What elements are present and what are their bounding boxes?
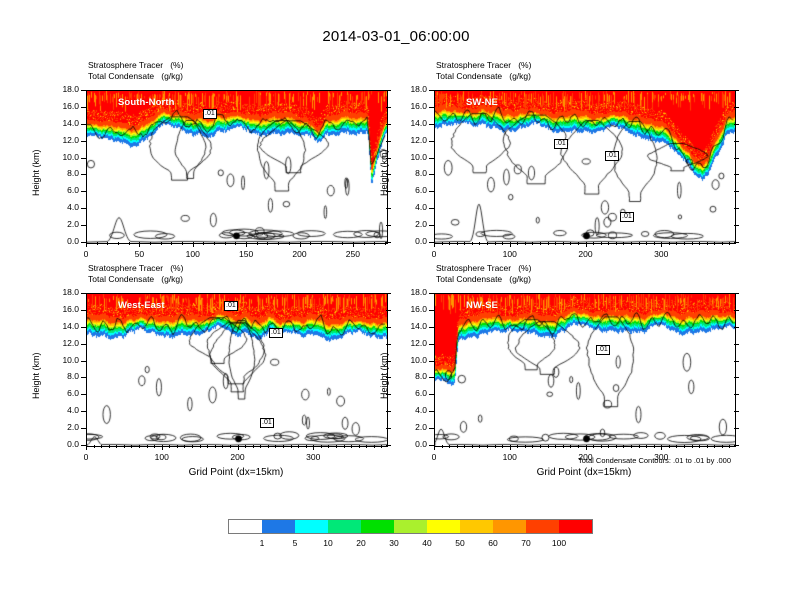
y-tick-label: 10.0 [46,355,79,365]
x-minor-tick [699,242,700,245]
y-tick-mark-right [386,344,391,345]
x-minor-tick [442,445,443,448]
x-minor-tick [532,242,533,245]
colorbar-tick-label: 20 [346,538,376,548]
y-tick-mark [429,428,434,429]
colorbar-cell-4 [361,520,394,533]
y-tick-mark-right [734,90,739,91]
y-tick-label: 4.0 [394,405,427,415]
y-tick-mark-right [386,327,391,328]
x-minor-tick [479,242,480,245]
y-tick-label: 18.0 [46,84,79,94]
colorbar-tick-label: 10 [313,538,343,548]
y-tick-mark [81,107,86,108]
x-minor-tick [161,242,162,245]
y-tick-mark-right [386,445,391,446]
y-tick-mark-right [734,394,739,395]
x-minor-tick [646,445,647,448]
x-minor-tick [385,242,386,245]
x-tick-mark [586,242,587,247]
x-tick-mark [510,445,511,450]
x-tick-mark [586,445,587,450]
cross-section-label-south-north: South-North [118,97,175,108]
x-tick-label: 0 [66,249,106,259]
x-minor-tick [502,242,503,245]
x-minor-tick [129,242,130,245]
y-tick-mark [81,394,86,395]
x-minor-tick [495,445,496,448]
x-tick-mark [434,445,435,450]
colorbar-cell-7 [460,520,493,533]
contour-value-label: .01 [260,418,274,428]
colorbar-tick-label: 50 [445,538,475,548]
x-minor-tick [676,445,677,448]
y-tick-mark [429,377,434,378]
y-tick-label: 6.0 [394,185,427,195]
x-minor-tick [366,445,367,448]
y-tick-label: 14.0 [46,321,79,331]
y-tick-mark-right [734,310,739,311]
y-tick-label: 8.0 [46,371,79,381]
cross-section-canvas-sw-ne [435,91,735,243]
x-minor-tick [676,242,677,245]
y-tick-mark-right [734,327,739,328]
condensate-variable-label: Total Condensate (g/kg) [88,71,183,82]
x-minor-tick [570,242,571,245]
x-tick-label: 250 [333,249,373,259]
y-tick-mark [429,141,434,142]
y-tick-label: 12.0 [394,135,427,145]
x-minor-tick [306,445,307,448]
plot-area-sw-ne[interactable] [434,90,736,244]
y-tick-mark-right [734,361,739,362]
y-tick-mark-right [386,90,391,91]
y-tick-mark [81,377,86,378]
x-minor-tick [169,445,170,448]
y-tick-label: 4.0 [46,405,79,415]
x-minor-tick [310,242,311,245]
contour-value-label: .01 [269,328,283,338]
y-tick-mark [429,90,434,91]
x-tick-label: 100 [490,249,530,259]
x-axis-label: Grid Point (dx=15km) [86,467,386,478]
x-minor-tick [555,445,556,448]
page-title: 2014-03-01_06:00:00 [0,28,792,45]
x-minor-tick [278,242,279,245]
x-minor-tick [283,445,284,448]
x-tick-mark [353,242,354,247]
x-minor-tick [646,242,647,245]
y-tick-mark [81,310,86,311]
x-minor-tick [608,242,609,245]
x-minor-tick [548,242,549,245]
y-tick-label: 2.0 [46,219,79,229]
x-minor-tick [502,445,503,448]
panel-header-west-east: Stratosphere Tracer (%)Total Condensate … [88,263,183,284]
y-tick-mark [81,124,86,125]
y-tick-mark-right [734,174,739,175]
x-minor-tick [540,445,541,448]
x-minor-tick [139,445,140,448]
y-tick-label: 10.0 [394,152,427,162]
y-tick-label: 16.0 [394,304,427,314]
x-minor-tick [182,242,183,245]
x-minor-tick [374,445,375,448]
x-minor-tick [107,242,108,245]
contour-value-label: .01 [620,212,634,222]
x-minor-tick [623,242,624,245]
x-minor-tick [578,445,579,448]
y-tick-label: 14.0 [394,321,427,331]
x-minor-tick [722,445,723,448]
x-minor-tick [192,445,193,448]
y-tick-label: 10.0 [394,355,427,365]
y-tick-label: 16.0 [394,101,427,111]
x-minor-tick [639,445,640,448]
y-axis-label-south-north: Height (km) [31,149,41,196]
y-tick-mark-right [734,191,739,192]
x-minor-tick [487,445,488,448]
y-tick-mark-right [386,124,391,125]
y-tick-mark [429,310,434,311]
x-minor-tick [342,242,343,245]
x-minor-tick [729,242,730,245]
x-minor-tick [487,242,488,245]
x-minor-tick [570,445,571,448]
y-tick-label: 10.0 [46,152,79,162]
cross-section-label-nw-se: NW-SE [466,300,498,311]
x-minor-tick [684,242,685,245]
colorbar-ticks: 1510203040506070100 [228,538,593,554]
y-tick-label: 2.0 [394,219,427,229]
contour-note: Total Condensate Contours: .01 to .01 by… [578,456,731,465]
x-minor-tick [328,445,329,448]
x-tick-label: 0 [414,249,454,259]
x-tick-mark [86,445,87,450]
x-minor-tick [214,242,215,245]
x-minor-tick [291,445,292,448]
x-minor-tick [118,242,119,245]
y-tick-mark-right [386,293,391,294]
x-tick-label: 200 [280,249,320,259]
x-minor-tick [381,445,382,448]
colorbar-tick-label: 1 [247,538,277,548]
y-tick-mark [81,411,86,412]
y-tick-mark [81,344,86,345]
panel-header-sw-ne: Stratosphere Tracer (%)Total Condensate … [436,60,531,81]
y-tick-label: 0.0 [394,236,427,246]
y-tick-mark-right [734,445,739,446]
x-tick-mark [193,242,194,247]
x-minor-tick [654,242,655,245]
x-minor-tick [464,242,465,245]
y-tick-mark-right [386,141,391,142]
tracer-variable-label: Stratosphere Tracer (%) [88,263,183,274]
x-minor-tick [601,445,602,448]
x-minor-tick [540,242,541,245]
x-minor-tick [253,445,254,448]
tracer-variable-label: Stratosphere Tracer (%) [436,60,531,71]
y-tick-mark-right [386,225,391,226]
x-minor-tick [150,242,151,245]
x-tick-mark [300,242,301,247]
y-axis-label-sw-ne: Height (km) [379,149,389,196]
y-tick-mark [429,107,434,108]
x-tick-mark [162,445,163,450]
y-tick-mark-right [734,411,739,412]
x-tick-mark [434,242,435,247]
y-tick-mark-right [734,377,739,378]
contour-value-label: .01 [596,345,610,355]
y-tick-label: 2.0 [46,422,79,432]
x-minor-tick [203,242,204,245]
x-tick-mark [86,242,87,247]
tracer-variable-label: Stratosphere Tracer (%) [88,60,183,71]
condensate-variable-label: Total Condensate (g/kg) [436,274,531,285]
x-tick-mark [139,242,140,247]
x-minor-tick [257,242,258,245]
x-minor-tick [729,445,730,448]
x-minor-tick [722,242,723,245]
y-tick-mark [429,124,434,125]
y-tick-mark-right [734,428,739,429]
y-tick-label: 0.0 [394,439,427,449]
y-tick-mark [81,361,86,362]
plot-area-nw-se[interactable] [434,293,736,447]
x-minor-tick [344,445,345,448]
y-tick-label: 14.0 [46,118,79,128]
x-tick-label: 100 [490,452,530,462]
y-tick-label: 8.0 [46,168,79,178]
x-minor-tick [321,242,322,245]
x-minor-tick [472,445,473,448]
x-minor-tick [669,242,670,245]
y-tick-mark-right [386,310,391,311]
y-tick-mark [429,394,434,395]
x-tick-mark [510,242,511,247]
x-minor-tick [268,445,269,448]
colorbar-cell-2 [295,520,328,533]
y-tick-mark-right [386,411,391,412]
colorbar-cell-5 [394,520,427,533]
x-tick-label: 200 [218,452,258,462]
x-minor-tick [525,445,526,448]
y-tick-mark [429,174,434,175]
tracer-variable-label: Stratosphere Tracer (%) [436,263,531,274]
y-tick-mark [81,293,86,294]
cross-section-label-sw-ne: SW-NE [466,97,498,108]
x-minor-tick [623,445,624,448]
y-tick-mark [429,293,434,294]
y-tick-mark-right [386,107,391,108]
x-minor-tick [593,242,594,245]
x-minor-tick [479,445,480,448]
x-minor-tick [359,445,360,448]
x-tick-mark [661,445,662,450]
y-tick-label: 4.0 [46,202,79,212]
y-tick-mark [81,141,86,142]
colorbar-tick-label: 40 [412,538,442,548]
x-minor-tick [101,445,102,448]
y-tick-label: 8.0 [394,371,427,381]
x-minor-tick [321,445,322,448]
x-minor-tick [639,242,640,245]
x-tick-mark [238,445,239,450]
colorbar: 1510203040506070100 [228,519,593,554]
x-minor-tick [601,242,602,245]
colorbar-cell-3 [328,520,361,533]
contour-value-label: .01 [203,109,217,119]
x-tick-label: 0 [66,452,106,462]
colorbar-tick-label: 70 [511,538,541,548]
x-minor-tick [351,445,352,448]
y-tick-mark [81,191,86,192]
x-minor-tick [464,445,465,448]
cross-section-label-west-east: West-East [118,300,165,311]
y-tick-mark-right [734,242,739,243]
x-minor-tick [109,445,110,448]
x-tick-label: 100 [142,452,182,462]
colorbar-cell-0 [229,520,262,533]
y-tick-mark-right [386,208,391,209]
y-tick-mark [429,208,434,209]
y-tick-label: 18.0 [46,287,79,297]
x-minor-tick [154,445,155,448]
colorbar-cell-6 [427,520,460,533]
y-tick-label: 6.0 [46,388,79,398]
y-tick-label: 8.0 [394,168,427,178]
x-minor-tick [336,445,337,448]
x-minor-tick [707,242,708,245]
y-tick-mark-right [386,242,391,243]
y-tick-label: 14.0 [394,118,427,128]
contour-value-label: .01 [224,301,238,311]
x-tick-label: 300 [641,249,681,259]
contour-value-label: .01 [605,151,619,161]
y-tick-mark [81,208,86,209]
plot-area-south-north[interactable] [86,90,388,244]
colorbar-cell-10 [559,520,592,533]
x-minor-tick [555,242,556,245]
x-minor-tick [230,445,231,448]
plot-area-west-east[interactable] [86,293,388,447]
x-minor-tick [532,445,533,448]
x-minor-tick [631,445,632,448]
y-tick-mark [429,344,434,345]
y-tick-mark [429,191,434,192]
colorbar-cell-9 [526,520,559,533]
x-tick-label: 0 [414,452,454,462]
x-minor-tick [517,242,518,245]
y-tick-mark-right [734,208,739,209]
panel-header-nw-se: Stratosphere Tracer (%)Total Condensate … [436,263,531,284]
x-minor-tick [692,242,693,245]
y-tick-mark-right [734,225,739,226]
x-tick-label: 50 [119,249,159,259]
x-tick-mark [246,242,247,247]
x-minor-tick [97,242,98,245]
y-axis-label-west-east: Height (km) [31,352,41,399]
cross-section-canvas-south-north [87,91,387,243]
x-minor-tick [714,445,715,448]
x-minor-tick [578,242,579,245]
x-minor-tick [215,445,216,448]
colorbar-cells [228,519,593,534]
x-minor-tick [442,242,443,245]
x-minor-tick [235,242,236,245]
x-minor-tick [131,445,132,448]
condensate-variable-label: Total Condensate (g/kg) [436,71,531,82]
colorbar-tick-label: 30 [379,538,409,548]
y-tick-mark [429,327,434,328]
y-tick-mark [429,361,434,362]
contour-value-label: .01 [554,139,568,149]
y-tick-label: 0.0 [46,439,79,449]
y-tick-mark [429,158,434,159]
x-minor-tick [654,445,655,448]
y-tick-mark-right [386,428,391,429]
x-minor-tick [692,445,693,448]
y-tick-label: 16.0 [46,101,79,111]
y-tick-mark-right [734,293,739,294]
x-axis-label: Grid Point (dx=15km) [434,467,734,478]
x-minor-tick [669,445,670,448]
y-axis-label-nw-se: Height (km) [379,352,389,399]
x-tick-mark [313,445,314,450]
x-minor-tick [616,242,617,245]
x-minor-tick [171,242,172,245]
x-minor-tick [616,445,617,448]
cross-section-canvas-west-east [87,294,387,446]
y-tick-mark-right [734,141,739,142]
x-minor-tick [147,445,148,448]
x-minor-tick [332,242,333,245]
x-minor-tick [374,242,375,245]
x-minor-tick [593,445,594,448]
colorbar-tick-label: 5 [280,538,310,548]
colorbar-tick-label: 100 [544,538,574,548]
y-tick-label: 6.0 [46,185,79,195]
x-minor-tick [124,445,125,448]
y-tick-mark-right [734,124,739,125]
x-tick-label: 200 [566,249,606,259]
y-tick-mark [81,90,86,91]
x-minor-tick [684,445,685,448]
y-tick-label: 4.0 [394,202,427,212]
x-minor-tick [548,445,549,448]
x-minor-tick [364,242,365,245]
y-tick-mark-right [734,344,739,345]
colorbar-cell-1 [262,520,295,533]
x-minor-tick [184,445,185,448]
colorbar-cell-8 [493,520,526,533]
y-tick-label: 18.0 [394,84,427,94]
x-minor-tick [200,445,201,448]
x-minor-tick [449,242,450,245]
y-tick-mark [81,174,86,175]
x-minor-tick [207,445,208,448]
y-tick-mark [81,428,86,429]
x-minor-tick [260,445,261,448]
y-tick-label: 12.0 [46,135,79,145]
x-minor-tick [631,242,632,245]
y-tick-mark-right [734,107,739,108]
x-minor-tick [472,242,473,245]
condensate-variable-label: Total Condensate (g/kg) [88,274,183,285]
panel-header-south-north: Stratosphere Tracer (%)Total Condensate … [88,60,183,81]
y-tick-label: 16.0 [46,304,79,314]
x-minor-tick [177,445,178,448]
